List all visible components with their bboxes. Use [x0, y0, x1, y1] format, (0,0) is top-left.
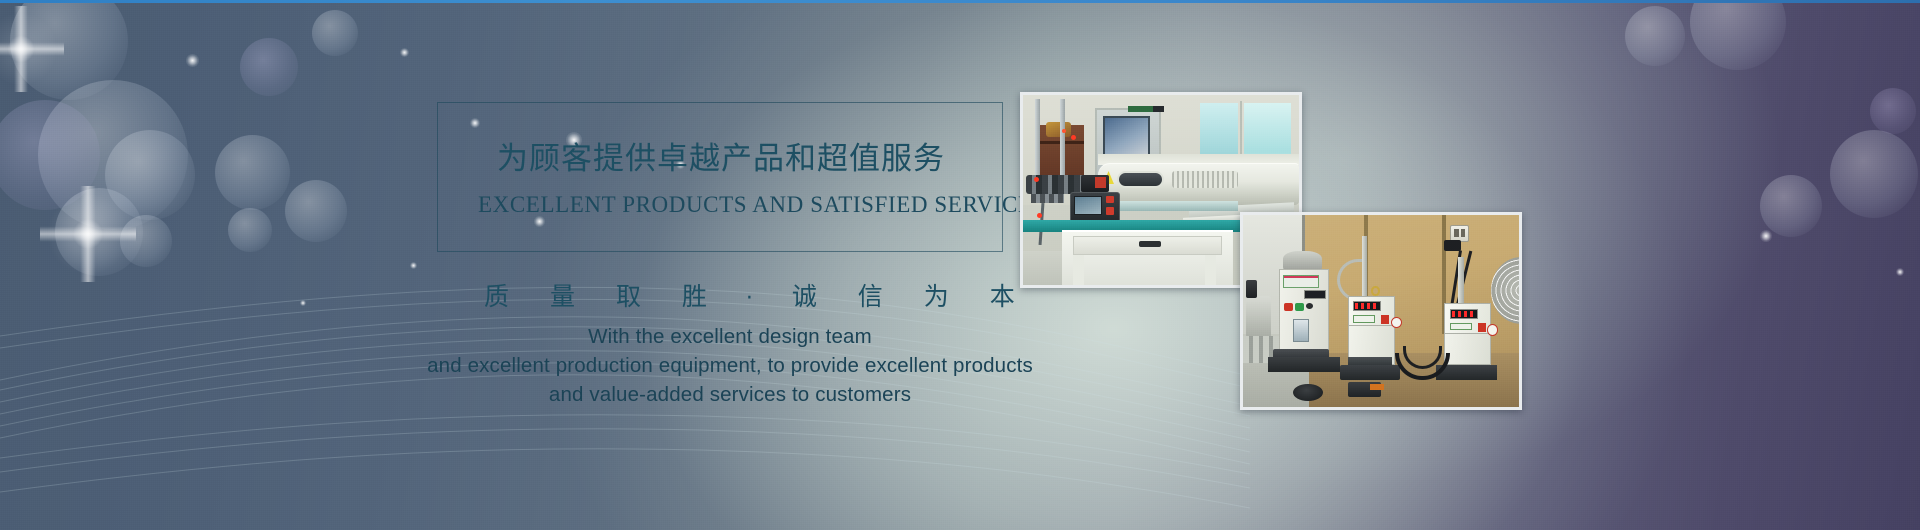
slogan-char-6: 信: [858, 277, 884, 313]
slogan-char-1: 质: [484, 277, 510, 313]
slogan-separator-dot: ·: [746, 286, 754, 311]
paragraph-line-1: With the excellent design team: [380, 322, 1080, 351]
slogan-char-3: 取: [616, 277, 642, 313]
description-paragraph: With the excellent design team and excel…: [380, 322, 1080, 409]
slogan-char-2: 量: [550, 277, 576, 313]
slogan-char-5: 诚: [792, 277, 818, 313]
headline-chinese: 为顾客提供卓越产品和超值服务: [497, 133, 945, 178]
top-accent-rule: [0, 0, 1920, 3]
press-machines-workshop-photo: [1240, 212, 1522, 410]
promo-banner: 为顾客提供卓越产品和超值服务 EXCELLENT PRODUCTS AND SA…: [0, 0, 1920, 530]
paragraph-line-3: and value-added services to customers: [380, 380, 1080, 409]
slogan-line: 质 量 取 胜 · 诚 信 为 本: [468, 277, 1031, 313]
slogan-char-8: 本: [990, 277, 1016, 313]
banner-text-block: 为顾客提供卓越产品和超值服务 EXCELLENT PRODUCTS AND SA…: [0, 0, 1060, 530]
slogan-char-7: 为: [924, 277, 950, 313]
slogan-char-4: 胜: [682, 277, 708, 313]
paragraph-line-2: and excellent production equipment, to p…: [380, 351, 1080, 380]
subheadline-english: EXCELLENT PRODUCTS AND SATISFIED SERVICE: [478, 192, 1033, 218]
